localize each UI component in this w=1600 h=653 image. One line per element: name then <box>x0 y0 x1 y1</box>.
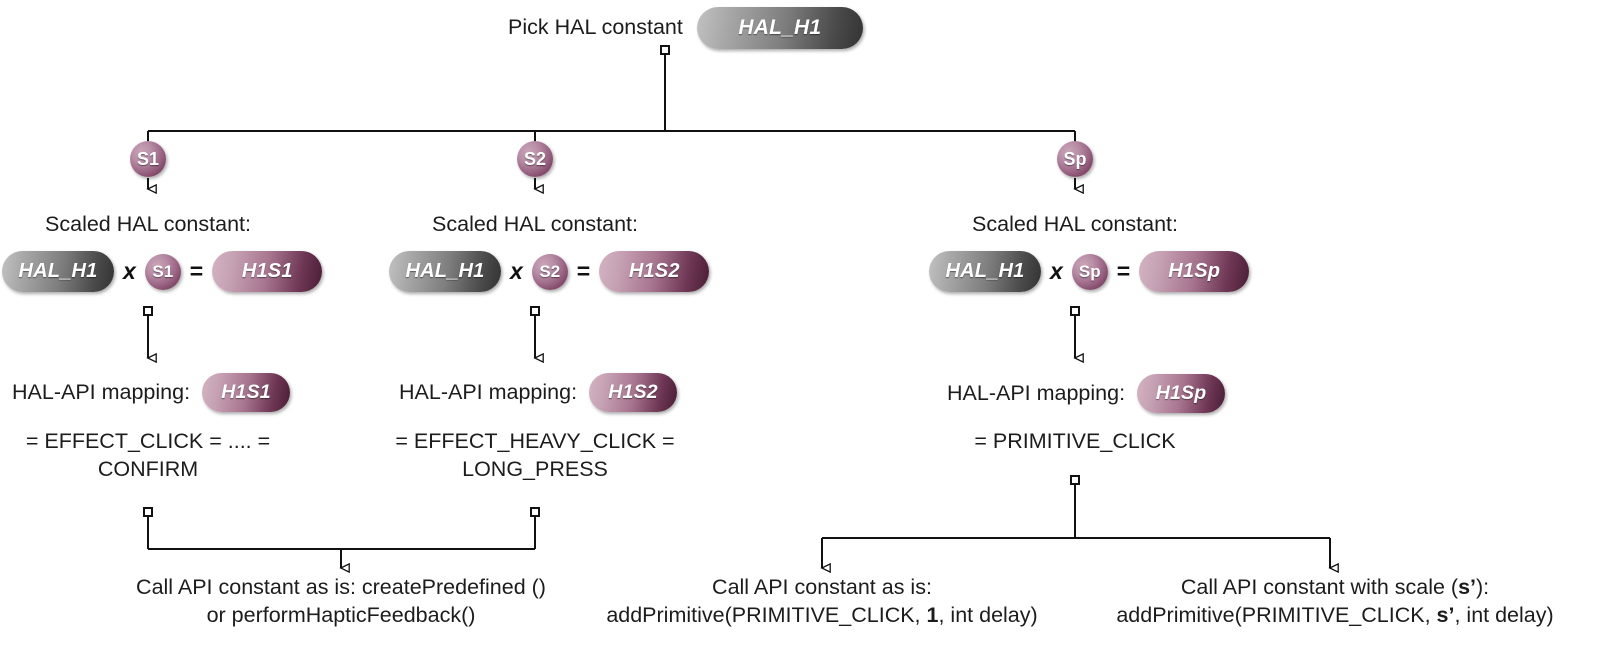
multiply-operator-s1: x <box>114 258 145 285</box>
scaled-operand-hal-s1[interactable]: HAL_H1 <box>2 251 114 292</box>
outcome-primitive-default: Call API constant as is: addPrimitive(PR… <box>562 574 1082 629</box>
outcome-primitive-scaled-line2: addPrimitive(PRIMITIVE_CLICK, s’, int de… <box>1075 602 1595 630</box>
scaled-operand-hal-s2[interactable]: HAL_H1 <box>389 251 501 292</box>
multiply-operator-sp: x <box>1041 258 1072 285</box>
scaled-title-s1: Scaled HAL constant: <box>0 211 296 239</box>
mapping-row-s1: HAL-API mapping: H1S1 <box>12 373 290 412</box>
mapping-row-sp: HAL-API mapping: H1Sp <box>947 374 1225 413</box>
scaled-operand-scale-s2[interactable]: S2 <box>532 254 568 290</box>
scaled-result-sp[interactable]: H1Sp <box>1139 251 1249 292</box>
outcome-primitive-scaled-line1-prefix: Call API constant with scale ( <box>1181 575 1458 599</box>
outcome-primitive-scaled-emphasis: s’ <box>1437 603 1455 627</box>
scaled-result-s2[interactable]: H1S2 <box>599 251 709 292</box>
mapping-row-s2: HAL-API mapping: H1S2 <box>399 373 677 412</box>
outcome-primitive-default-line2-prefix: addPrimitive(PRIMITIVE_CLICK, <box>606 603 926 627</box>
outcome-primitive-default-line1: Call API constant as is: <box>562 574 1082 602</box>
scaled-title-s2: Scaled HAL constant: <box>387 211 683 239</box>
mapping-pill-sp[interactable]: H1Sp <box>1137 374 1225 413</box>
outcome-predefined-line1: Call API constant as is: createPredefine… <box>61 574 621 602</box>
scale-node-s2[interactable]: S2 <box>517 141 553 177</box>
scaled-operand-scale-sp[interactable]: Sp <box>1072 254 1108 290</box>
mapping-label-s2: HAL-API mapping: <box>399 379 577 407</box>
root-label: Pick HAL constant <box>508 14 683 42</box>
root-pill-hal-h1[interactable]: HAL_H1 <box>697 7 863 49</box>
equals-operator-s1: = <box>181 258 212 285</box>
equals-operator-s2: = <box>568 258 599 285</box>
equals-operator-sp: = <box>1108 258 1139 285</box>
mapping-value-line2-s2: LONG_PRESS <box>387 456 683 484</box>
mapping-label-sp: HAL-API mapping: <box>947 380 1125 408</box>
outcome-predefined-line2: or performHapticFeedback() <box>61 602 621 630</box>
scaled-operand-hal-sp[interactable]: HAL_H1 <box>929 251 1041 292</box>
outcome-primitive-scaled-line2-prefix: addPrimitive(PRIMITIVE_CLICK, <box>1116 603 1436 627</box>
mapping-value-line1-s2: = EFFECT_HEAVY_CLICK = <box>387 428 683 456</box>
mapping-value-line1-s1: = EFFECT_CLICK = .... = <box>0 428 296 456</box>
diagram-canvas: Pick HAL constant HAL_H1 S1 S2 Sp Scaled… <box>0 0 1600 653</box>
connector-handle-scaled-sp <box>1071 307 1079 315</box>
scaled-expression-s1: HAL_H1 x S1 = H1S1 <box>2 251 322 292</box>
scaled-operand-scale-s1[interactable]: S1 <box>145 254 181 290</box>
scaled-expression-sp: HAL_H1 x Sp = H1Sp <box>929 251 1249 292</box>
outcome-primitive-scaled: Call API constant with scale (s’): addPr… <box>1075 574 1595 629</box>
connector-handle-mapping-sp <box>1071 476 1079 484</box>
outcome-primitive-default-line2-suffix: , int delay) <box>938 603 1037 627</box>
connector-handle-scaled-s1 <box>144 307 152 315</box>
outcome-primitive-scaled-line1-emphasis: s’ <box>1458 575 1476 599</box>
multiply-operator-s2: x <box>501 258 532 285</box>
outcome-primitive-default-emphasis: 1 <box>927 603 939 627</box>
mapping-value-line1-sp: = PRIMITIVE_CLICK <box>927 428 1223 456</box>
outcome-primitive-scaled-line1-suffix: ): <box>1476 575 1489 599</box>
outcome-predefined: Call API constant as is: createPredefine… <box>61 574 621 629</box>
outcome-primitive-scaled-line1: Call API constant with scale (s’): <box>1075 574 1595 602</box>
scale-node-s1[interactable]: S1 <box>130 141 166 177</box>
mapping-value-line2-s1: CONFIRM <box>0 456 296 484</box>
scale-node-sp[interactable]: Sp <box>1057 141 1093 177</box>
connector-handle-mapping-s2 <box>531 508 539 516</box>
outcome-primitive-default-line2: addPrimitive(PRIMITIVE_CLICK, 1, int del… <box>562 602 1082 630</box>
connector-handle-mapping-s1 <box>144 508 152 516</box>
scaled-result-s1[interactable]: H1S1 <box>212 251 322 292</box>
outcome-primitive-scaled-line2-suffix: , int delay) <box>1454 603 1553 627</box>
mapping-pill-s1[interactable]: H1S1 <box>202 373 290 412</box>
connector-handle-scaled-s2 <box>531 307 539 315</box>
connector-layer <box>0 0 1600 653</box>
mapping-label-s1: HAL-API mapping: <box>12 379 190 407</box>
root-node[interactable]: Pick HAL constant HAL_H1 <box>508 7 863 49</box>
scaled-title-sp: Scaled HAL constant: <box>927 211 1223 239</box>
mapping-pill-s2[interactable]: H1S2 <box>589 373 677 412</box>
scaled-expression-s2: HAL_H1 x S2 = H1S2 <box>389 251 709 292</box>
